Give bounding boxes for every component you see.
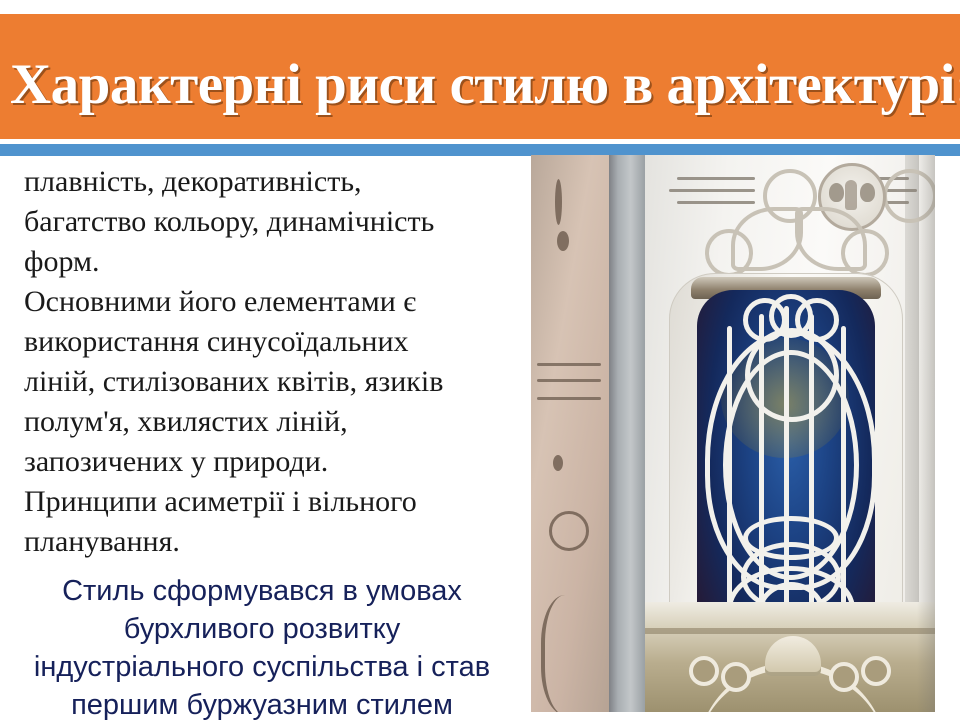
body-line: Основними його елементами є [0,282,524,322]
body-line: ліній, стилізованих квітів, язиків [0,362,524,402]
scroll-curl-left [705,229,753,277]
cornice-band [645,628,935,634]
art-nouveau-window-photo [531,155,935,712]
cornice-rosette [829,662,859,692]
cornice-rosette [861,656,891,686]
body-line: планування. [0,522,524,562]
body-line: запозичених у природи. [0,442,524,482]
body-line: форм. [0,242,524,282]
emphasis-line: першим буржуазним стилем [4,686,520,724]
emphasis-line: індустріального суспільства і став [4,648,520,686]
body-line: багатство кольору, динамічність [0,202,524,242]
adjacent-wall [531,155,609,712]
emphasis-line: Стиль сформувався в умовах [4,572,520,610]
page-title: Характерні риси стилю в архітектурі: [10,54,955,116]
title-banner: Характерні риси стилю в архітектурі: [0,14,960,139]
ornamental-cornice [645,602,935,712]
photo-right-shading [917,155,935,712]
body-line: плавність, декоративність, [0,162,524,202]
cornice-rosette [689,656,719,686]
pilaster-column [609,155,645,712]
cornice-fan-ornament [765,636,821,676]
emphasis-line: бурхливого розвитку [4,610,520,648]
content-text-column: плавність, декоративність, багатство кол… [0,162,524,718]
scroll-curl-right [841,229,889,277]
emphasis-text-block: Стиль сформувався в умовах бурхливого ро… [0,572,524,724]
grille-knot-loop [743,516,839,560]
body-line: використання синусоїдальних [0,322,524,362]
cornice-rosette [721,662,751,692]
body-line: полум'я, хвилястих ліній, [0,402,524,442]
body-line: Принципи асиметрії і вільного [0,482,524,522]
